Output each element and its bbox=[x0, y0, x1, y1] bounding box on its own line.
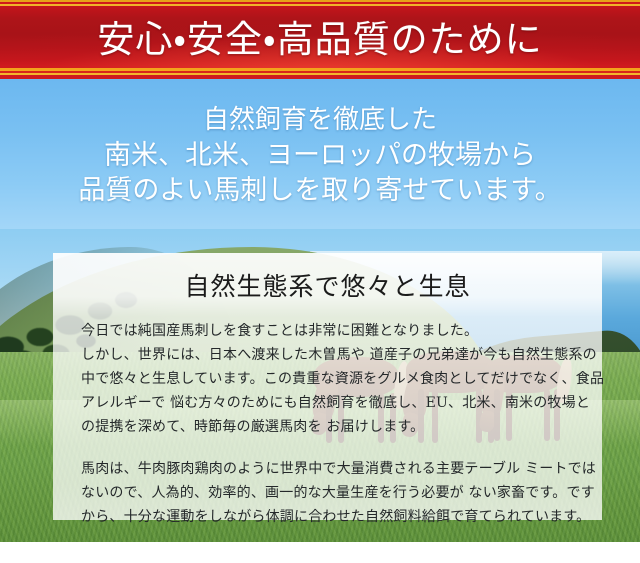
body-line: から、十分な運動をしながら体調に合わせた自然飼料給餌で育てられています。 bbox=[81, 505, 574, 529]
panel-heading: 自然生態系で悠々と生息 bbox=[81, 267, 574, 307]
lead-line-1: 自然飼育を徹底した bbox=[203, 103, 437, 138]
page-title: 安心・安全・高品質のために bbox=[0, 0, 640, 72]
body-line: の提携を深めて、時節毎の厳選馬肉を お届けします。 bbox=[81, 415, 574, 439]
panel-body: 今日では純国産馬刺しを食すことは非常に困難となりました。 しかし、世界には、日本… bbox=[81, 319, 574, 529]
lead-line-2: 南米、北米、ヨーロッパの牧場から bbox=[104, 138, 536, 173]
header-banner: 安心・安全・高品質のために bbox=[0, 0, 640, 79]
footer-strip bbox=[0, 542, 640, 563]
lead-line-3: 品質のよい馬刺しを取り寄せています。 bbox=[78, 173, 561, 208]
body-line: 今日では純国産馬刺しを食すことは非常に困難となりました。 bbox=[81, 319, 574, 343]
content-panel: 自然生態系で悠々と生息 今日では純国産馬刺しを食すことは非常に困難となりました。… bbox=[53, 253, 602, 520]
paragraph-2: 馬肉は、牛肉豚肉鶏肉のように世界中で大量消費される主要テーブル ミートでは ない… bbox=[81, 457, 574, 529]
body-line: アレルギーで 悩む方々のためにも自然飼育を徹底し、EU、北米、南米の牧場と bbox=[81, 391, 574, 415]
body-line: しかし、世界には、日本へ渡来した木曽馬や 道産子の兄弟達が今も自然生態系の bbox=[81, 343, 574, 367]
paragraph-1: 今日では純国産馬刺しを食すことは非常に困難となりました。 しかし、世界には、日本… bbox=[81, 319, 574, 439]
body-line: ないので、人為的、効率的、画一的な大量生産を行う必要が ない家畜です。です bbox=[81, 481, 574, 505]
promotional-banner: 安心・安全・高品質のために 自然飼育を徹底した 南米、北米、ヨーロッパの牧場から… bbox=[0, 0, 640, 563]
sky-background: 自然飼育を徹底した 南米、北米、ヨーロッパの牧場から 品質のよい馬刺しを取り寄せ… bbox=[0, 79, 640, 229]
lead-copy: 自然飼育を徹底した 南米、北米、ヨーロッパの牧場から 品質のよい馬刺しを取り寄せ… bbox=[0, 79, 640, 229]
body-line: 馬肉は、牛肉豚肉鶏肉のように世界中で大量消費される主要テーブル ミートでは bbox=[81, 457, 574, 481]
body-line: 中で悠々と生息しています。この貴重な資源をグルメ食肉としてだけでなく、食品 bbox=[81, 367, 574, 391]
